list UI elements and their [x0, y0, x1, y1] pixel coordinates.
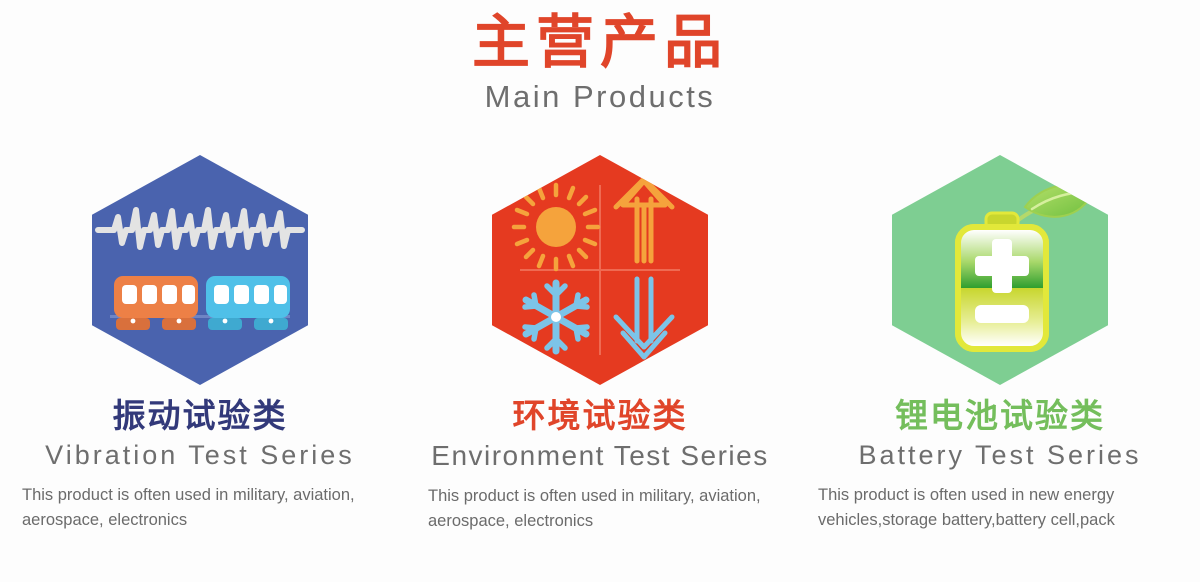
- environment-icon-wrap: [400, 155, 800, 390]
- environment-hexagon-icon: [492, 155, 708, 385]
- product-card-vibration[interactable]: 振动试验类 Vibration Test Series This product…: [0, 155, 400, 582]
- product-label-cn-environment: 环境试验类: [400, 398, 800, 434]
- product-label-en-battery: Battery Test Series: [800, 440, 1200, 471]
- product-label-en-environment: Environment Test Series: [400, 440, 800, 472]
- battery-hexagon-icon: [892, 155, 1108, 385]
- product-description-vibration: This product is often used in military, …: [0, 483, 400, 533]
- product-columns: 振动试验类 Vibration Test Series This product…: [0, 155, 1200, 582]
- product-label-cn-battery: 锂电池试验类: [800, 398, 1200, 434]
- product-card-environment[interactable]: 环境试验类 Environment Test Series This produ…: [400, 155, 800, 582]
- product-card-battery[interactable]: 锂电池试验类 Battery Test Series This product …: [800, 155, 1200, 582]
- page-header: 主营产品 Main Products: [0, 0, 1200, 115]
- vibration-icon-wrap: [0, 155, 400, 390]
- product-description-battery: This product is often used in new energy…: [800, 483, 1200, 533]
- product-description-environment: This product is often used in military, …: [400, 484, 800, 534]
- product-label-cn-vibration: 振动试验类: [0, 398, 400, 434]
- vibration-hexagon-icon: [92, 155, 308, 385]
- page-title-en: Main Products: [0, 79, 1200, 115]
- product-label-en-vibration: Vibration Test Series: [0, 440, 400, 471]
- page-title-cn: 主营产品: [0, 12, 1200, 73]
- battery-icon-wrap: [800, 155, 1200, 390]
